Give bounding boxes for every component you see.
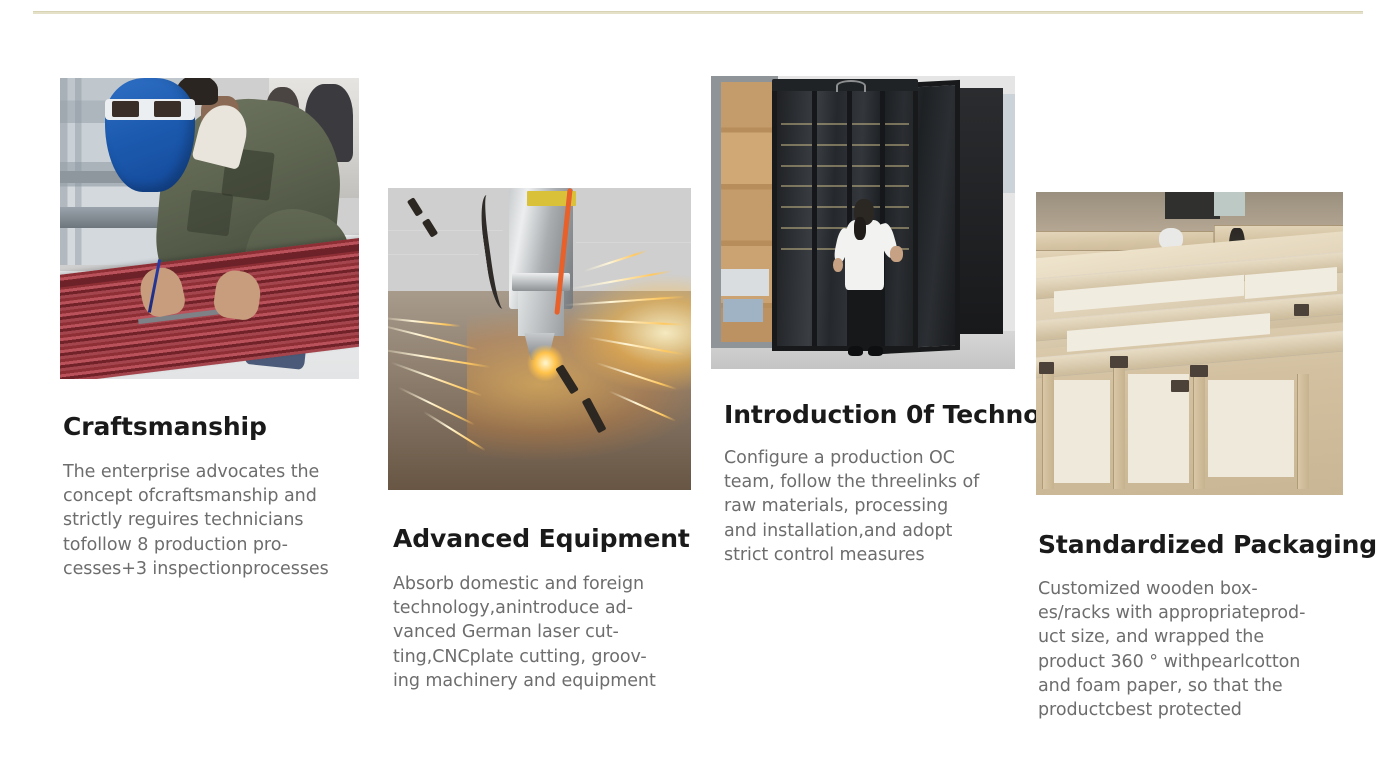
crate-corner-plank: [1113, 362, 1125, 489]
person-shoe-right: [868, 346, 883, 356]
background-teal-wall: [1214, 192, 1245, 216]
technology-photo: [711, 76, 1015, 369]
equipment-photo: [388, 188, 691, 490]
card-body-craftsmanship: The enterprise advocates the concept ofc…: [63, 460, 363, 581]
door-handle-icon: [836, 80, 866, 92]
card-body-equipment: Absorb domestic and foreign technology,a…: [393, 572, 693, 693]
feature-card-technology: Introduction 0f Technology Configure a p…: [711, 76, 1031, 567]
door-slat: [781, 144, 909, 146]
background-dark-opening: [1165, 192, 1220, 219]
door-mullion: [812, 87, 817, 347]
door-slat: [781, 165, 909, 167]
door-slat: [781, 185, 909, 187]
card-title-technology: Introduction 0f Technology: [724, 400, 1031, 429]
plate-scribe-2: [388, 254, 479, 255]
crate-side-panel: [1054, 380, 1109, 483]
crate-corner-plank: [1042, 368, 1054, 489]
door-display-unit: [772, 82, 918, 352]
goggle-lens-left: [112, 101, 139, 117]
crate-metal-bracket: [1190, 365, 1208, 377]
cut-slug: [422, 218, 438, 238]
card-title-packaging: Standardized Packaging: [1038, 530, 1356, 559]
craftsmanship-photo: [60, 78, 359, 379]
plate-scribe-3: [576, 242, 691, 243]
spark-glow-right: [564, 273, 691, 394]
cut-point-glow: [527, 345, 563, 381]
card-body-technology: Configure a production OC team, follow t…: [724, 446, 1029, 567]
person-legs: [849, 281, 881, 351]
welding-mask-icon: [105, 78, 195, 192]
door-far-right: [954, 88, 1003, 334]
goggle-lens-right: [154, 101, 181, 117]
door-slat: [781, 123, 909, 125]
crate-metal-bracket: [1171, 380, 1189, 392]
person-hand-right: [890, 246, 902, 262]
card-title-craftsmanship: Craftsmanship: [63, 412, 370, 441]
spark: [583, 250, 647, 273]
feature-card-equipment: Advanced Equipment Absorb domestic and f…: [388, 188, 698, 693]
crate-side-panel: [1208, 380, 1294, 477]
feature-card-packaging: Standardized Packaging Customized wooden…: [1036, 192, 1356, 722]
card-body-packaging: Customized wooden box- es/racks with app…: [1038, 577, 1348, 722]
crate-metal-frame: [711, 76, 778, 348]
cut-slug: [407, 197, 423, 217]
packaging-photo: [1036, 192, 1343, 495]
crate-metal-bracket: [1039, 362, 1054, 374]
crate-metal-bracket: [1110, 356, 1128, 368]
crate-corner-plank: [1297, 374, 1309, 489]
crate-corner-plank: [1193, 368, 1205, 489]
crate-metal-bracket: [1294, 304, 1309, 316]
person-ponytail: [854, 217, 866, 240]
jacket-pocket-lower: [186, 190, 233, 237]
slide-root: Craftsmanship The enterprise advocates t…: [0, 0, 1394, 759]
door-slat: [781, 206, 909, 208]
person-shoe-left: [848, 346, 863, 356]
top-divider-rule: [33, 11, 1363, 14]
card-title-equipment: Advanced Equipment: [393, 524, 698, 553]
feature-card-craftsmanship: Craftsmanship The enterprise advocates t…: [60, 78, 370, 581]
